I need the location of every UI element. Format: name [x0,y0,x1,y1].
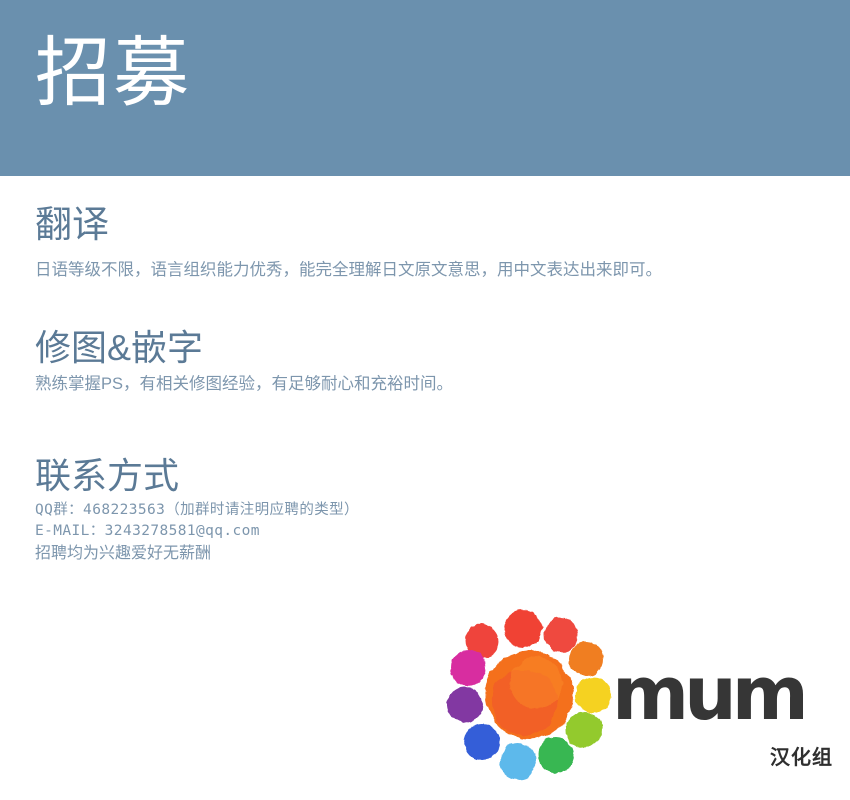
contact-line-note: 招聘均为兴趣爱好无薪酬 [35,542,825,565]
section-translate: 翻译 日语等级不限，语言组织能力优秀，能完全理解日文原文意思，用中文表达出来即可… [35,206,825,281]
dot-purple [447,687,483,723]
dot-light-blue [500,743,536,779]
contact-lines: QQ群：468223563（加群时请注明应聘的类型） E-MAIL：324327… [35,500,825,565]
dot-blue [464,724,500,760]
section-retouch: 修图&嵌字 熟练掌握PS，有相关修图经验，有足够耐心和充裕时间。 [35,329,825,395]
header-band: 招募 [0,0,850,176]
logo-center-blob [485,651,573,739]
dot-red-top [504,610,542,648]
logo-subtitle: 汉化组 [770,741,833,770]
dot-red-top-right [544,618,578,652]
dot-orange [569,642,603,676]
section-contact: 联系方式 QQ群：468223563（加群时请注明应聘的类型） E-MAIL：3… [35,457,825,565]
section-translate-title: 翻译 [35,206,825,245]
contact-line-email[interactable]: E-MAIL：3243278581@qq.com [35,521,825,542]
section-retouch-title: 修图&嵌字 [35,329,825,367]
section-translate-body: 日语等级不限，语言组织能力优秀，能完全理解日文原文意思，用中文表达出来即可。 [35,259,825,281]
dot-yellow-green [566,712,602,748]
page-title: 招募 [35,36,191,112]
dot-magenta [450,650,486,686]
section-retouch-body: 熟练掌握PS，有相关修图经验，有足够耐心和充裕时间。 [35,373,825,395]
logo-wordmark: mum [612,657,804,731]
contact-line-qq[interactable]: QQ群：468223563（加群时请注明应聘的类型） [35,500,825,521]
logo-watercolor-mark [440,605,620,785]
dot-green [538,737,574,773]
logo: mum 汉化组 [440,605,840,790]
section-contact-title: 联系方式 [35,457,825,495]
dot-yellow [575,677,611,713]
